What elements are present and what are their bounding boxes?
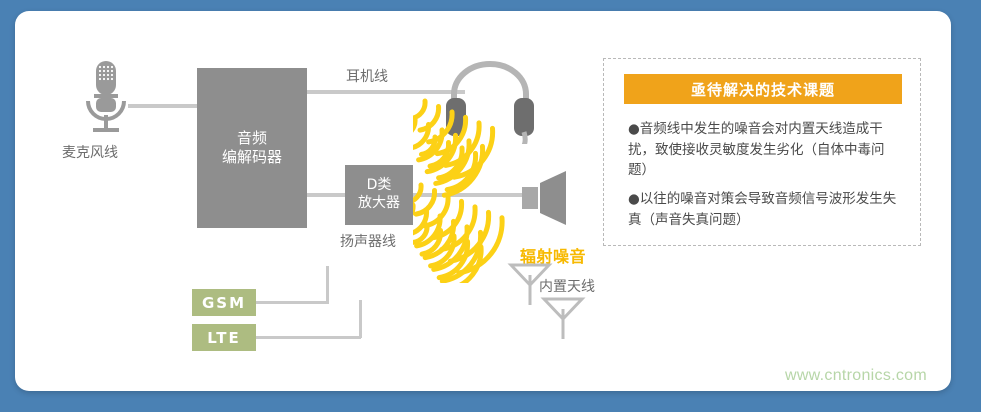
block-audio-codec-line1: 音频 [237, 129, 267, 148]
technical-issues-title: 亟待解决的技术课题 [624, 74, 902, 104]
block-audio-codec[interactable]: 音频 编解码器 [197, 68, 307, 228]
site-watermark: www.cntronics.com [785, 367, 927, 385]
block-class-d-amplifier[interactable]: D类 放大器 [345, 165, 413, 225]
diagram-card: 麦克风线 音频 编解码器 D类 放大器 扬声器线 耳机线 [15, 11, 951, 391]
block-lte[interactable]: LTE [192, 324, 256, 351]
technical-issues-panel: 亟待解决的技术课题 ●音频线中发生的噪音会对内置天线造成干扰，致使接收灵敏度发生… [603, 58, 921, 246]
label-microphone-cable: 麦克风线 [62, 142, 118, 162]
label-speaker-cable: 扬声器线 [340, 231, 396, 251]
block-gsm[interactable]: GSM [192, 289, 256, 316]
antenna-icon [540, 295, 586, 341]
block-audio-codec-line2: 编解码器 [222, 148, 282, 167]
wire-codec-to-amplifier [305, 193, 347, 197]
wire-antenna2-stem [359, 300, 362, 338]
technical-issue-item: ●以往的噪音对策会导致音频信号波形发生失真（声音失真问题） [628, 189, 900, 230]
wire-antenna1-stem [326, 266, 329, 304]
label-headphone-cable: 耳机线 [346, 66, 388, 86]
technical-issue-item: ●音频线中发生的噪音会对内置天线造成干扰，致使接收灵敏度发生劣化（自体中毒问题） [628, 119, 900, 181]
wire-lte-to-antenna [256, 336, 361, 339]
block-amplifier-line2: 放大器 [358, 195, 400, 213]
label-builtin-antenna: 内置天线 [539, 276, 595, 296]
wire-gsm-to-antenna [256, 301, 328, 304]
diagram-stage: 麦克风线 音频 编解码器 D类 放大器 扬声器线 耳机线 [15, 11, 951, 391]
block-amplifier-line1: D类 [367, 177, 392, 195]
wire-microphone-to-codec [128, 104, 199, 108]
microphone-icon [81, 59, 131, 137]
